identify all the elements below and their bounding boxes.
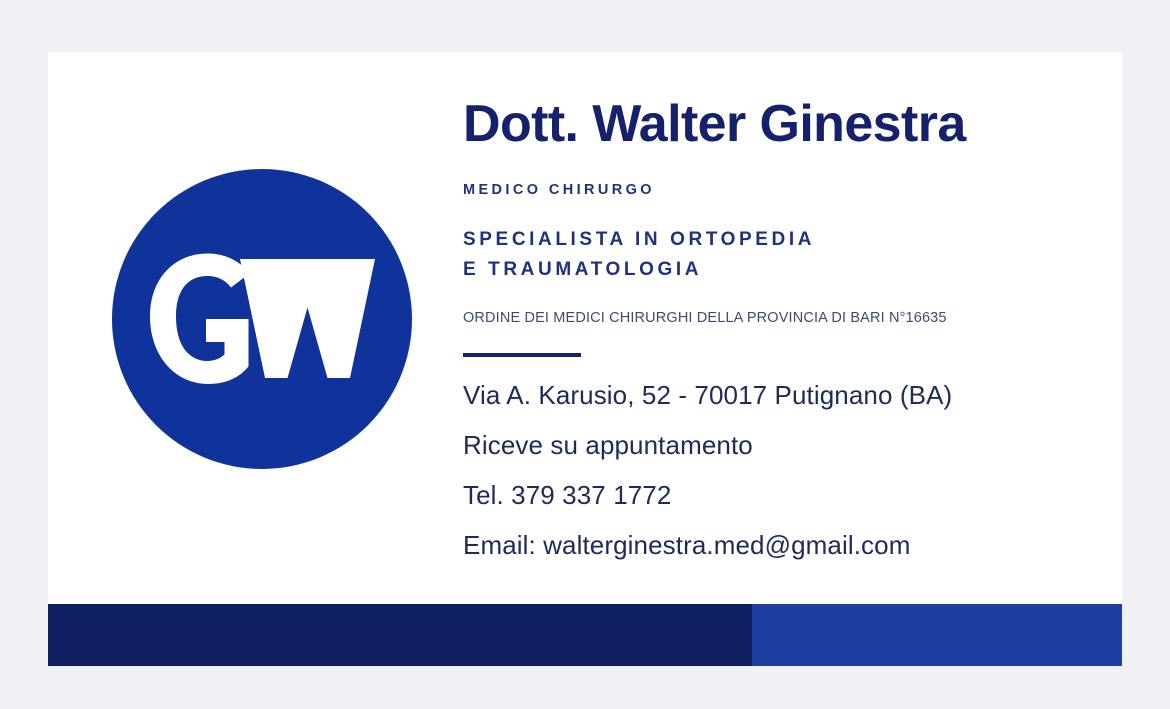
info-column: Dott. Walter Ginestra MEDICO CHIRURGO SP…	[463, 52, 1103, 571]
role-label: MEDICO CHIRURGO	[463, 152, 1103, 198]
footer-bar-light-segment	[752, 604, 1122, 666]
footer-color-bar	[48, 604, 1122, 666]
contact-address: Via A. Karusio, 52 - 70017 Putignano (BA…	[463, 371, 1103, 421]
contact-email[interactable]: Email: walterginestra.med@gmail.com	[463, 521, 1103, 571]
contact-phone[interactable]: Tel. 379 337 1772	[463, 471, 1103, 521]
footer-bar-dark-segment	[48, 604, 752, 666]
business-card-canvas: Dott. Walter Ginestra MEDICO CHIRURGO SP…	[0, 0, 1170, 709]
logo-container	[112, 169, 412, 469]
gw-monogram-icon	[147, 253, 377, 385]
page-title: Dott. Walter Ginestra	[463, 52, 1103, 152]
contact-appointments: Riceve su appuntamento	[463, 421, 1103, 471]
logo-circle	[112, 169, 412, 469]
contact-block: Via A. Karusio, 52 - 70017 Putignano (BA…	[463, 357, 1103, 571]
business-card: Dott. Walter Ginestra MEDICO CHIRURGO SP…	[48, 52, 1122, 666]
registry-number: ORDINE DEI MEDICI CHIRURGHI DELLA PROVIN…	[463, 284, 1103, 326]
specialty-line-2: E TRAUMATOLOGIA	[463, 255, 1103, 284]
specialty-block: SPECIALISTA IN ORTOPEDIA E TRAUMATOLOGIA	[463, 198, 1103, 284]
specialty-line-1: SPECIALISTA IN ORTOPEDIA	[463, 225, 1103, 254]
